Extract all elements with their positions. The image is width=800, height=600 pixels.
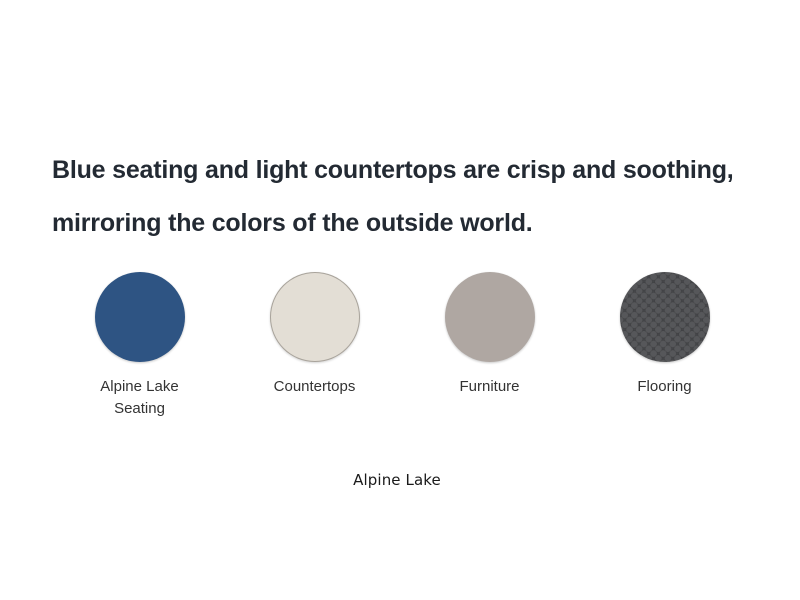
slide-canvas: Blue seating and light countertops are c… — [0, 0, 800, 600]
headline-text: Blue seating and light countertops are c… — [52, 144, 752, 250]
headline-line-1: Blue seating and light countertops are c… — [52, 144, 752, 197]
color-chip-furniture — [445, 272, 535, 362]
color-chip-flooring — [620, 272, 710, 362]
swatch-label-furniture: Furniture — [459, 376, 519, 398]
color-palette-row: Alpine Lake Seating Countertops Furnitur… — [52, 272, 752, 420]
swatch-furniture: Furniture — [402, 272, 577, 420]
slide-caption: Alpine Lake — [0, 471, 800, 489]
color-chip-alpine-lake-seating — [95, 272, 185, 362]
swatch-alpine-lake-seating: Alpine Lake Seating — [52, 272, 227, 420]
swatch-flooring: Flooring — [577, 272, 752, 420]
swatch-label-countertops: Countertops — [274, 376, 356, 398]
swatch-countertops: Countertops — [227, 272, 402, 420]
color-chip-countertops — [270, 272, 360, 362]
headline-line-2: mirroring the colors of the outside worl… — [52, 197, 752, 250]
swatch-label-flooring: Flooring — [637, 376, 691, 398]
swatch-label-alpine-lake-seating: Alpine Lake Seating — [75, 376, 205, 420]
caption-text: Alpine Lake — [353, 471, 441, 489]
